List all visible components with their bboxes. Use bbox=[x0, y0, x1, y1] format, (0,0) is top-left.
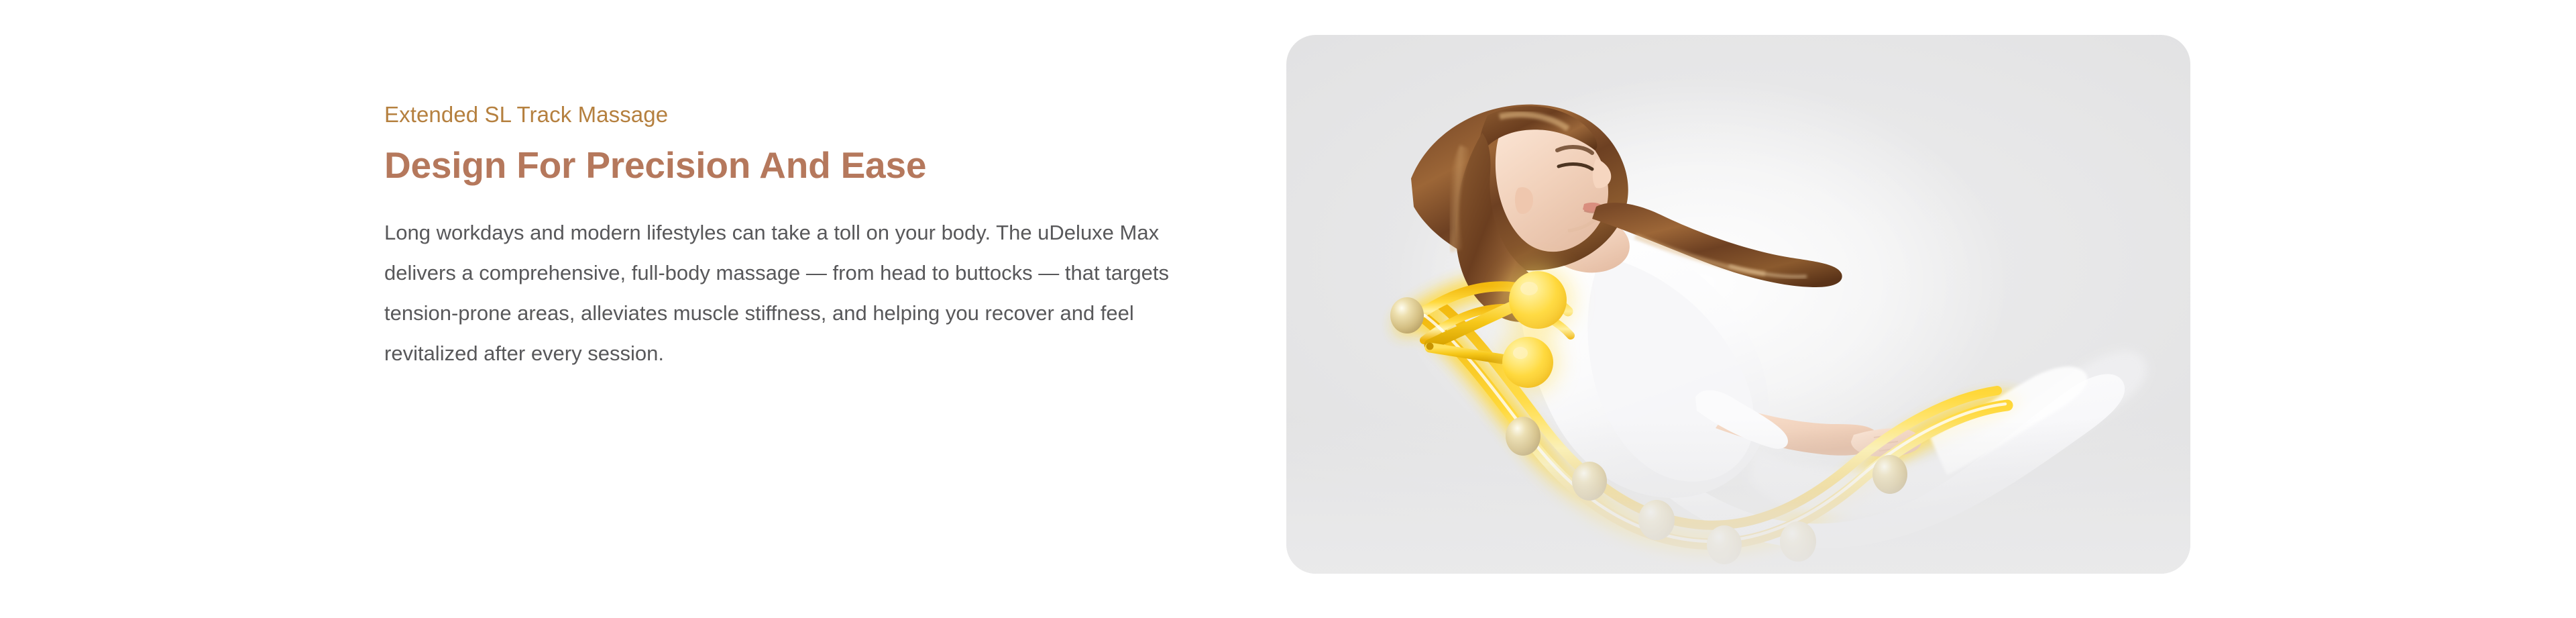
roller-bead bbox=[1707, 525, 1742, 564]
roller-bead bbox=[1780, 521, 1816, 562]
section-eyebrow: Extended SL Track Massage bbox=[384, 101, 1229, 128]
scene-svg bbox=[1286, 35, 2190, 574]
roller-bead bbox=[1506, 417, 1541, 456]
feature-text-column: Extended SL Track Massage Design For Pre… bbox=[384, 101, 1229, 373]
roller-bead bbox=[1872, 455, 1907, 494]
product-illustration-panel bbox=[1286, 35, 2190, 574]
roller-bead bbox=[1390, 297, 1424, 333]
feature-section: Extended SL Track Massage Design For Pre… bbox=[0, 0, 2576, 618]
page-title: Design For Precision And Ease bbox=[384, 144, 1229, 187]
massage-chair-scene bbox=[1286, 35, 2190, 574]
roller-bead bbox=[1572, 462, 1607, 501]
feature-description: Long workdays and modern lifestyles can … bbox=[384, 213, 1176, 373]
roller-bead bbox=[1638, 500, 1675, 540]
feature-description-text: Long workdays and modern lifestyles can … bbox=[384, 221, 1169, 364]
